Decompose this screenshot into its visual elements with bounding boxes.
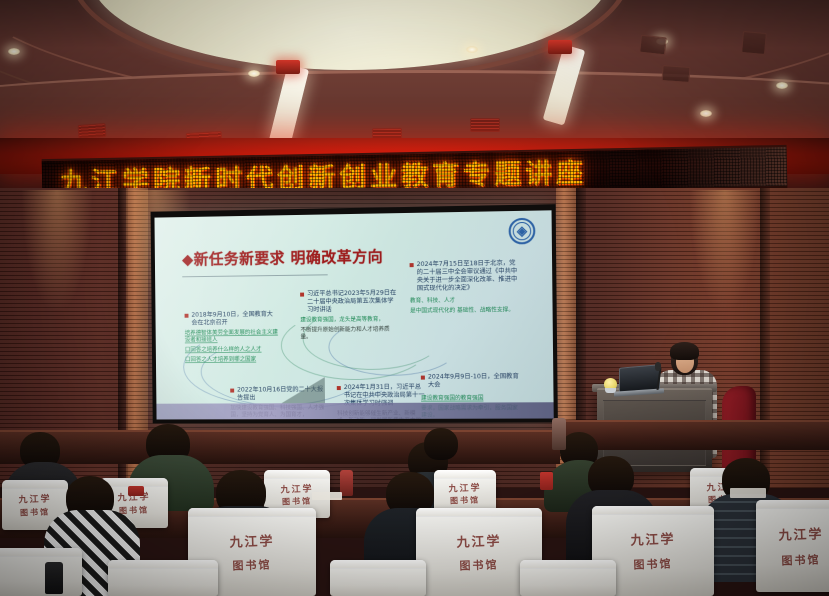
chair-cover-top: [434, 470, 496, 479]
slide-box-body-2: 不断提升原始创新能力和人才培养质量。: [300, 327, 398, 342]
audience-desk-row-back-right: [560, 420, 829, 450]
slide-box-2023: 习近平总书记2023年5月29日在二十届中央政治局第五次集体学习时讲话 建设教育…: [300, 289, 398, 341]
led-banner-edge-fade: [657, 147, 788, 188]
audience-chair-cover: [108, 560, 218, 596]
ceiling-panel: [639, 35, 667, 56]
slide-box-heading: 2024年9月9日-10日，全国教育大会: [421, 373, 521, 390]
ceiling-downlight: [466, 46, 478, 53]
paper-cup: [128, 486, 144, 496]
thermos-bottle: [552, 418, 566, 450]
handout-paper: [312, 492, 342, 500]
chair-cover-top: [0, 548, 82, 557]
chair-cover-top: [188, 508, 316, 517]
chair-cover-line-1: 九江学: [188, 529, 316, 552]
ceiling-downlight: [8, 48, 20, 55]
chair-cover-top: [2, 480, 68, 489]
slide-box-body-3: 口回答之人才培养到哪之国家: [185, 357, 279, 365]
chair-cover-line-1: 九江学: [2, 491, 68, 506]
slide-box-body: 教育、科技、人才: [410, 297, 518, 305]
university-seal-icon: ◈: [509, 218, 536, 245]
chair-cover-top: [592, 506, 714, 515]
slide-box-body: 培养德智体美劳全面发展的社会主义建设者和接班人: [185, 330, 279, 345]
microphone-icon: [655, 362, 661, 371]
chair-cover-top: [108, 560, 218, 569]
slide-title-rule: [182, 274, 327, 277]
audience-chair-cover: 九江学 图书馆: [756, 500, 829, 592]
presentation-slide: ◈ ◆新任务新要求 明确改革方向 2018年9月10日，全国教育大会在北京召开 …: [154, 210, 553, 419]
slide-box-2018: 2018年9月10日，全国教育大会在北京召开 培养德智体美劳全面发展的社会主义建…: [185, 311, 280, 365]
chair-cover-line-1: 九江学: [416, 529, 542, 552]
chair-cover-top: [756, 500, 829, 509]
handout-paper: [730, 488, 766, 498]
chair-cover-top: [520, 560, 616, 569]
lecture-hall-photo: 九江学院新时代创新创业教育专题讲座 ◈ ◆新任务新要求 明确改革方向 2018年…: [0, 0, 829, 596]
ceiling-vent: [78, 123, 107, 139]
chair-cover-line-1: 九江学: [434, 480, 496, 495]
ceiling-downlight: [700, 110, 712, 117]
chair-cover-top: [416, 508, 542, 517]
slide-footer-band: [156, 402, 553, 419]
slide-box-body-2: 口回答之培养什么样的人之人才: [185, 347, 279, 355]
slide-box-heading: 习近平总书记2023年5月29日在二十届中央政治局第五次集体学习时讲话: [300, 289, 398, 314]
slide-box-body: 建设教育强国，龙头是高等教育，: [300, 316, 398, 324]
wall-light-wash: [22, 190, 92, 310]
ceiling-downlight: [776, 82, 788, 89]
water-bottle: [45, 562, 63, 594]
slide-box-heading: 2024年7月15日至18日于北京，党的二十届三中全会审议通过《中共中央关于进一…: [410, 260, 518, 293]
chair-cover-top: [264, 470, 330, 479]
chair-cover-line-2: 图书馆: [434, 494, 496, 507]
audience-chair-cover: [0, 548, 82, 596]
auditorium-ceiling: [0, 0, 829, 160]
ceiling-downlight: [248, 70, 260, 77]
ceiling-vent: [470, 118, 500, 132]
paper-cup: [540, 472, 553, 490]
slide-box-body-2: 是中国式现代化的 基础性、战略性支撑。: [410, 307, 518, 315]
ceiling-red-accent: [276, 60, 300, 74]
slide-triangle-decoration: [281, 377, 325, 403]
chair-cover-line-2: 图书馆: [756, 550, 829, 569]
ceiling-red-accent: [548, 40, 572, 54]
projection-screen: ◈ ◆新任务新要求 明确改革方向 2018年9月10日，全国教育大会在北京召开 …: [151, 204, 558, 423]
flower-pot: [605, 388, 616, 393]
wall-light-wash: [690, 190, 760, 310]
audience-chair-cover: [330, 560, 426, 596]
chair-cover-line-1: 九江学: [756, 522, 829, 544]
slide-box-heading: 2018年9月10日，全国教育大会在北京召开: [185, 311, 279, 328]
chair-cover-line-1: 九江学: [592, 527, 714, 550]
audience-desk-row-back: [0, 430, 560, 464]
audience-chair-cover: [520, 560, 616, 596]
speaker-hair: [670, 342, 699, 360]
ceiling-panel: [661, 65, 690, 83]
chair-cover-top: [330, 560, 426, 569]
slide-box-2024-july: 2024年7月15日至18日于北京，党的二十届三中全会审议通过《中共中央关于进一…: [410, 260, 518, 316]
slide-title: ◆新任务新要求 明确改革方向: [182, 245, 383, 269]
ceiling-panel: [741, 31, 767, 55]
